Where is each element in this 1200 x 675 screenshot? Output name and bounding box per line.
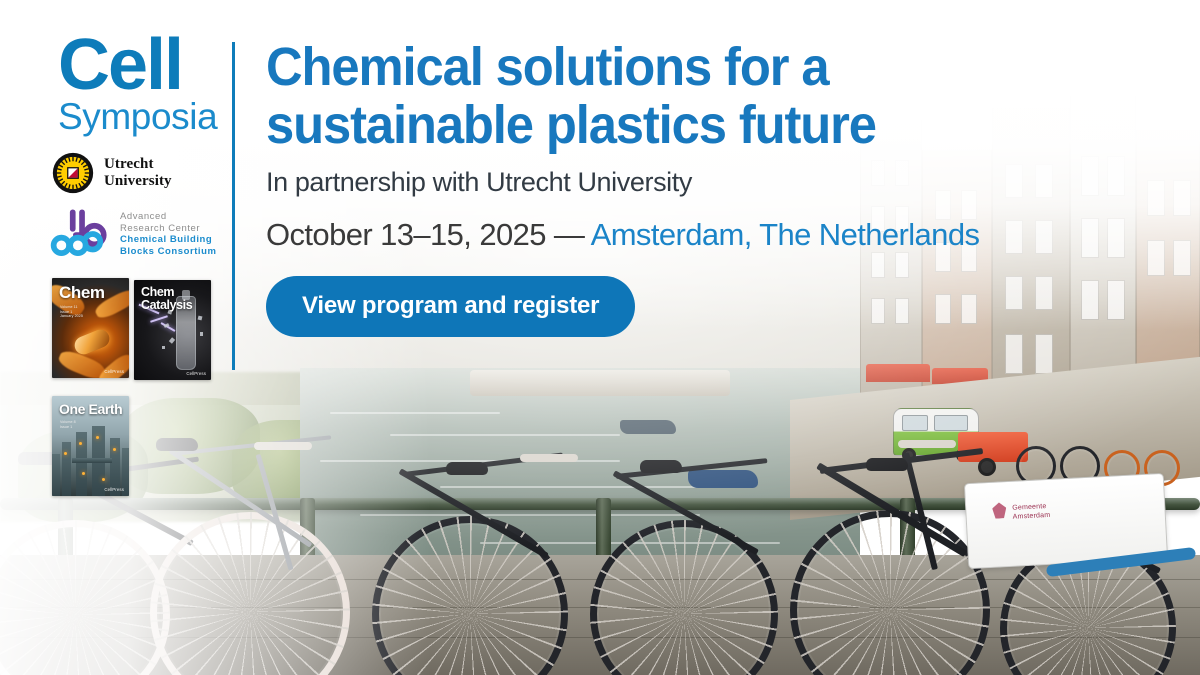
arc-line-3: Chemical Building: [120, 234, 216, 246]
arc-line-4: Blocks Consortium: [120, 246, 216, 258]
cell-symposia-logo: Cell Symposia: [58, 28, 234, 136]
event-date: October 13–15, 2025: [266, 217, 546, 252]
arc-cbbc-molecule-icon: [50, 208, 112, 260]
cover-issue-info: Volume 11Issue 1January 2025: [60, 305, 83, 319]
hero-content: Chemical solutions for a sustainable pla…: [266, 38, 1166, 337]
cover-press-mark: CellPress: [186, 371, 206, 376]
event-promo-banner: GemeenteAmsterdam Cell Symposia: [0, 0, 1200, 675]
uu-line-2: University: [104, 173, 172, 190]
cover-press-mark: CellPress: [104, 369, 124, 374]
arc-line-1: Advanced: [120, 211, 216, 223]
cover-title: Chem: [59, 284, 105, 302]
symposia-wordmark: Symposia: [58, 98, 234, 136]
event-dateline: October 13–15, 2025 — Amsterdam, The Net…: [266, 216, 1166, 254]
journal-cover-one-earth[interactable]: One Earth Volume 8Issue 1 CellPress: [52, 396, 129, 496]
utrecht-university-logo: Utrecht University: [52, 152, 234, 194]
brand-column: Cell Symposia: [44, 28, 234, 508]
arc-cbbc-logo: Advanced Research Center Chemical Buildi…: [50, 208, 234, 260]
cell-wordmark: Cell: [58, 28, 234, 102]
cover-title: One Earth: [59, 402, 122, 417]
hero-subtitle: In partnership with Utrecht University: [266, 166, 1166, 198]
journal-cover-chem-catalysis[interactable]: ChemCatalysis CellPress: [134, 280, 211, 380]
cover-press-mark: CellPress: [104, 487, 124, 492]
dateline-separator: —: [554, 217, 584, 252]
page-title: Chemical solutions for a sustainable pla…: [266, 38, 1112, 154]
cover-issue-info: Volume 8Issue 1: [60, 420, 76, 429]
utrecht-university-text: Utrecht University: [104, 156, 172, 190]
event-location: Amsterdam, The Netherlands: [591, 217, 980, 252]
journal-cover-chem[interactable]: Chem Volume 11Issue 1January 2025 CellPr…: [52, 278, 129, 378]
cover-title: ChemCatalysis: [141, 286, 192, 312]
arc-cbbc-text: Advanced Research Center Chemical Buildi…: [120, 211, 216, 257]
arc-line-2: Research Center: [120, 223, 216, 235]
uu-line-1: Utrecht: [104, 156, 172, 173]
view-program-and-register-button[interactable]: View program and register: [266, 276, 635, 337]
utrecht-sun-shield-icon: [52, 152, 94, 194]
vertical-divider: [232, 42, 235, 370]
journal-covers: Chem Volume 11Issue 1January 2025 CellPr…: [44, 278, 234, 508]
